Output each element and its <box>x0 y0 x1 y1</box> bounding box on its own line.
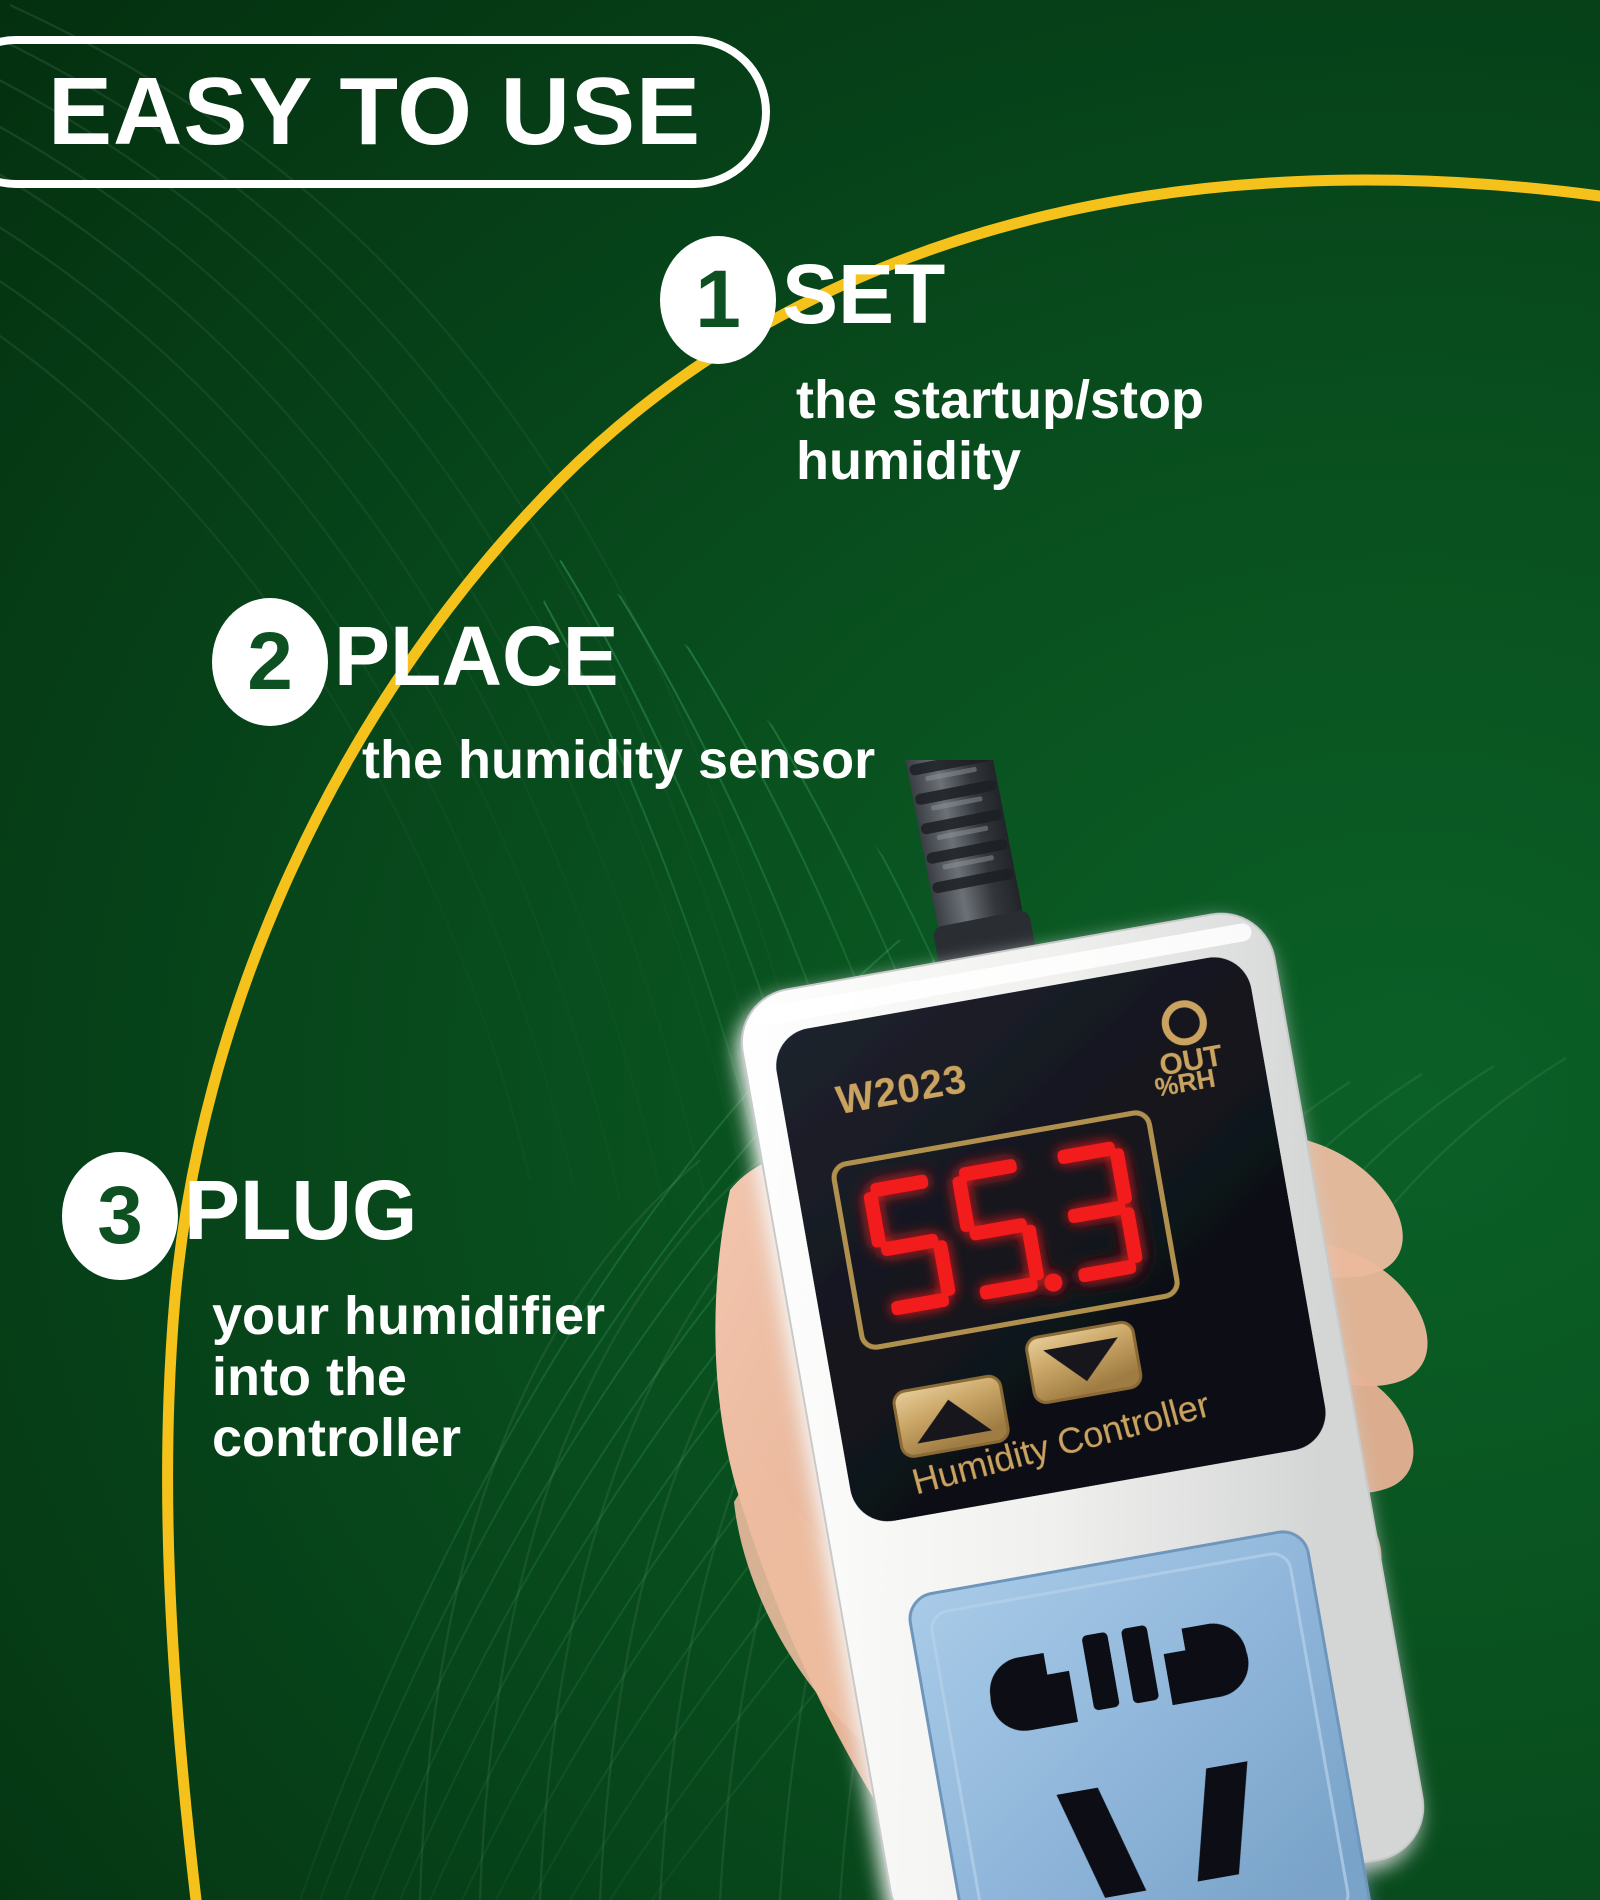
step-1-heading-row: 1 SET <box>660 236 1204 364</box>
step-3-description-line-3: controller <box>212 1408 605 1469</box>
step-1-number-badge: 1 <box>660 236 776 364</box>
humidity-controller-device: W2023 OUT %RH <box>700 760 1600 1900</box>
step-3-heading-row: 3 PLUG <box>62 1152 605 1280</box>
infographic-canvas: EASY TO USE 1 SET the startup/stop humid… <box>0 0 1600 1900</box>
step-2-description-line-1: the humidity sensor <box>362 730 875 791</box>
step-3-title: PLUG <box>184 1168 417 1252</box>
step-2: 2 PLACE the humidity sensor <box>212 598 875 791</box>
step-2-number-badge: 2 <box>212 598 328 726</box>
step-3-description-line-2: into the <box>212 1347 605 1408</box>
step-1-description-line-2: humidity <box>796 431 1204 492</box>
step-1: 1 SET the startup/stop humidity <box>660 236 1204 492</box>
step-3-description: your humidifier into the controller <box>212 1286 605 1469</box>
header-badge: EASY TO USE <box>0 36 770 188</box>
step-3-description-line-1: your humidifier <box>212 1286 605 1347</box>
step-2-title: PLACE <box>334 614 619 698</box>
step-1-description: the startup/stop humidity <box>796 370 1204 492</box>
step-2-description: the humidity sensor <box>362 730 875 791</box>
step-2-heading-row: 2 PLACE <box>212 598 875 726</box>
sensor-cable <box>897 760 1037 969</box>
step-3-number-badge: 3 <box>62 1152 178 1280</box>
page-title: EASY TO USE <box>48 64 701 160</box>
step-1-title: SET <box>782 252 945 336</box>
step-3: 3 PLUG your humidifier into the controll… <box>62 1152 605 1469</box>
step-1-description-line-1: the startup/stop <box>796 370 1204 431</box>
